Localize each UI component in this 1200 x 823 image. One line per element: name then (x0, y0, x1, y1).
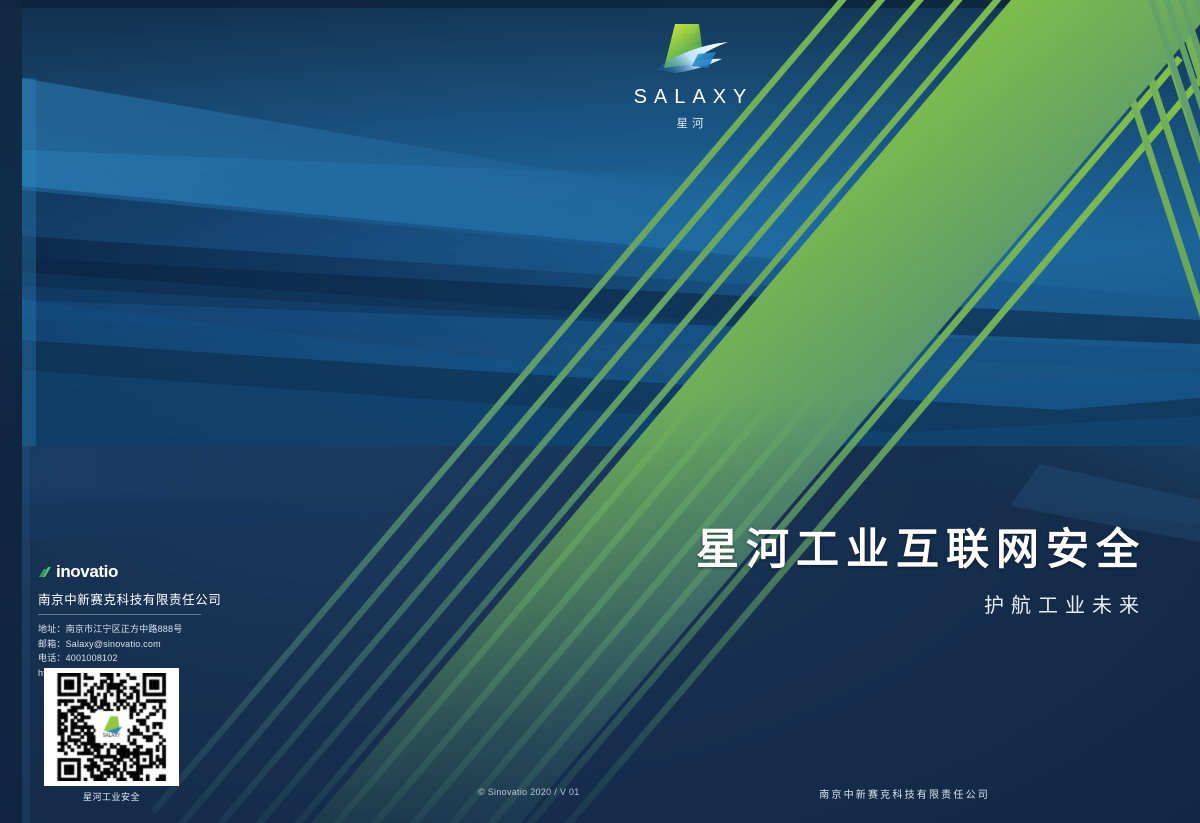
salaxy-wordmark: SALAXY (600, 86, 780, 109)
info-divider (38, 614, 201, 615)
page-title: 星河工业互联网安全 (689, 527, 1146, 573)
qr-code-caption: 星河工业安全 (44, 790, 179, 803)
contact-email: 邮箱：Salaxy@sinovatio.com (38, 637, 208, 652)
page-subtitle: 护航工业未来 (689, 589, 1146, 618)
contact-phone: 电话：4001008102 (38, 651, 208, 666)
qr-code-image (49, 673, 174, 781)
company-info-block: inovatio 南京中新赛克科技有限责任公司 地址：南京市江宁区正方中路888… (38, 562, 208, 680)
salaxy-wordmark-chinese: 星河 (600, 115, 780, 131)
inovatio-slash-icon (38, 565, 53, 580)
qr-code (44, 668, 179, 786)
brochure-cover-page: SALAXY 星河 星河工业互联网安全 护航工业未来 inovatio 南京中新… (0, 0, 1200, 823)
left-edge-gutter (0, 0, 22, 823)
contact-address: 地址：南京市江宁区正方中路888号 (38, 622, 208, 637)
salaxy-logo-icon (642, 18, 738, 80)
footer-company-name: 南京中新赛克科技有限责任公司 (819, 786, 990, 801)
cover-title-block: 星河工业互联网安全 护航工业未来 (689, 527, 1146, 618)
salaxy-logo-block: SALAXY 星河 (600, 18, 780, 131)
inovatio-wordmark: inovatio (56, 562, 118, 582)
inovatio-logo: inovatio (38, 562, 208, 582)
company-name-chinese: 南京中新赛克科技有限责任公司 (38, 589, 208, 608)
footer-copyright: © Sinovatio 2020 / V 01 (478, 787, 580, 797)
